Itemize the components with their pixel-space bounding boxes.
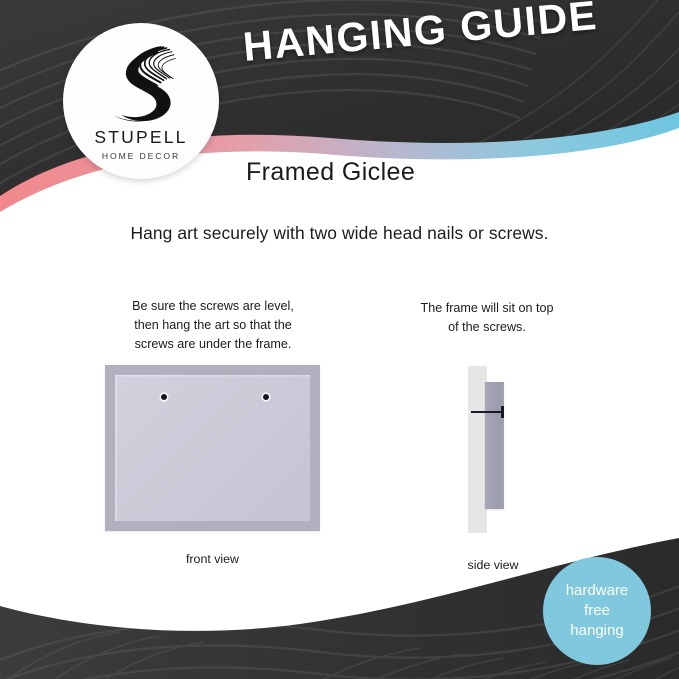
badge-line-2: free <box>584 601 610 621</box>
brand-tagline: HOME DECOR <box>102 151 180 161</box>
screw-shaft-icon <box>471 411 503 413</box>
hanging-guide-page: STUPELL HOME DECOR HANGING GUIDE Framed … <box>0 0 679 679</box>
front-caption-line-3: screws are under the frame. <box>88 335 338 354</box>
brand-logo-badge: STUPELL HOME DECOR <box>63 23 219 179</box>
frame-profile <box>485 382 504 509</box>
product-title: Framed Giclee <box>246 158 415 187</box>
page-title: HANGING GUIDE <box>241 0 595 86</box>
side-caption-line-1: The frame will sit on top <box>398 299 576 318</box>
front-view-label: front view <box>105 552 320 566</box>
front-view-column: Be sure the screws are level, then hang … <box>88 297 338 354</box>
frame-artwork-panel <box>115 375 310 521</box>
left-screw-marker-icon <box>161 394 167 400</box>
stupell-s-swoosh-icon <box>103 45 179 123</box>
side-view-label: side view <box>438 558 548 572</box>
instruction-lede: Hang art securely with two wide head nai… <box>0 223 679 244</box>
front-caption-line-1: Be sure the screws are level, <box>88 297 338 316</box>
badge-line-3: hanging <box>570 621 623 641</box>
screw-head-icon <box>501 406 504 418</box>
brand-name: STUPELL <box>94 127 187 148</box>
front-caption-line-2: then hang the art so that the <box>88 316 338 335</box>
front-view-caption: Be sure the screws are level, then hang … <box>88 297 338 354</box>
right-screw-marker-icon <box>263 394 269 400</box>
side-caption-line-2: of the screws. <box>398 318 576 337</box>
hardware-free-hanging-badge: hardware free hanging <box>543 557 651 665</box>
badge-line-1: hardware <box>566 581 629 601</box>
side-view-column: The frame will sit on top of the screws. <box>398 299 576 337</box>
side-view-caption: The frame will sit on top of the screws. <box>398 299 576 337</box>
side-view-frame-diagram <box>468 366 518 533</box>
front-view-frame-diagram <box>105 365 320 531</box>
